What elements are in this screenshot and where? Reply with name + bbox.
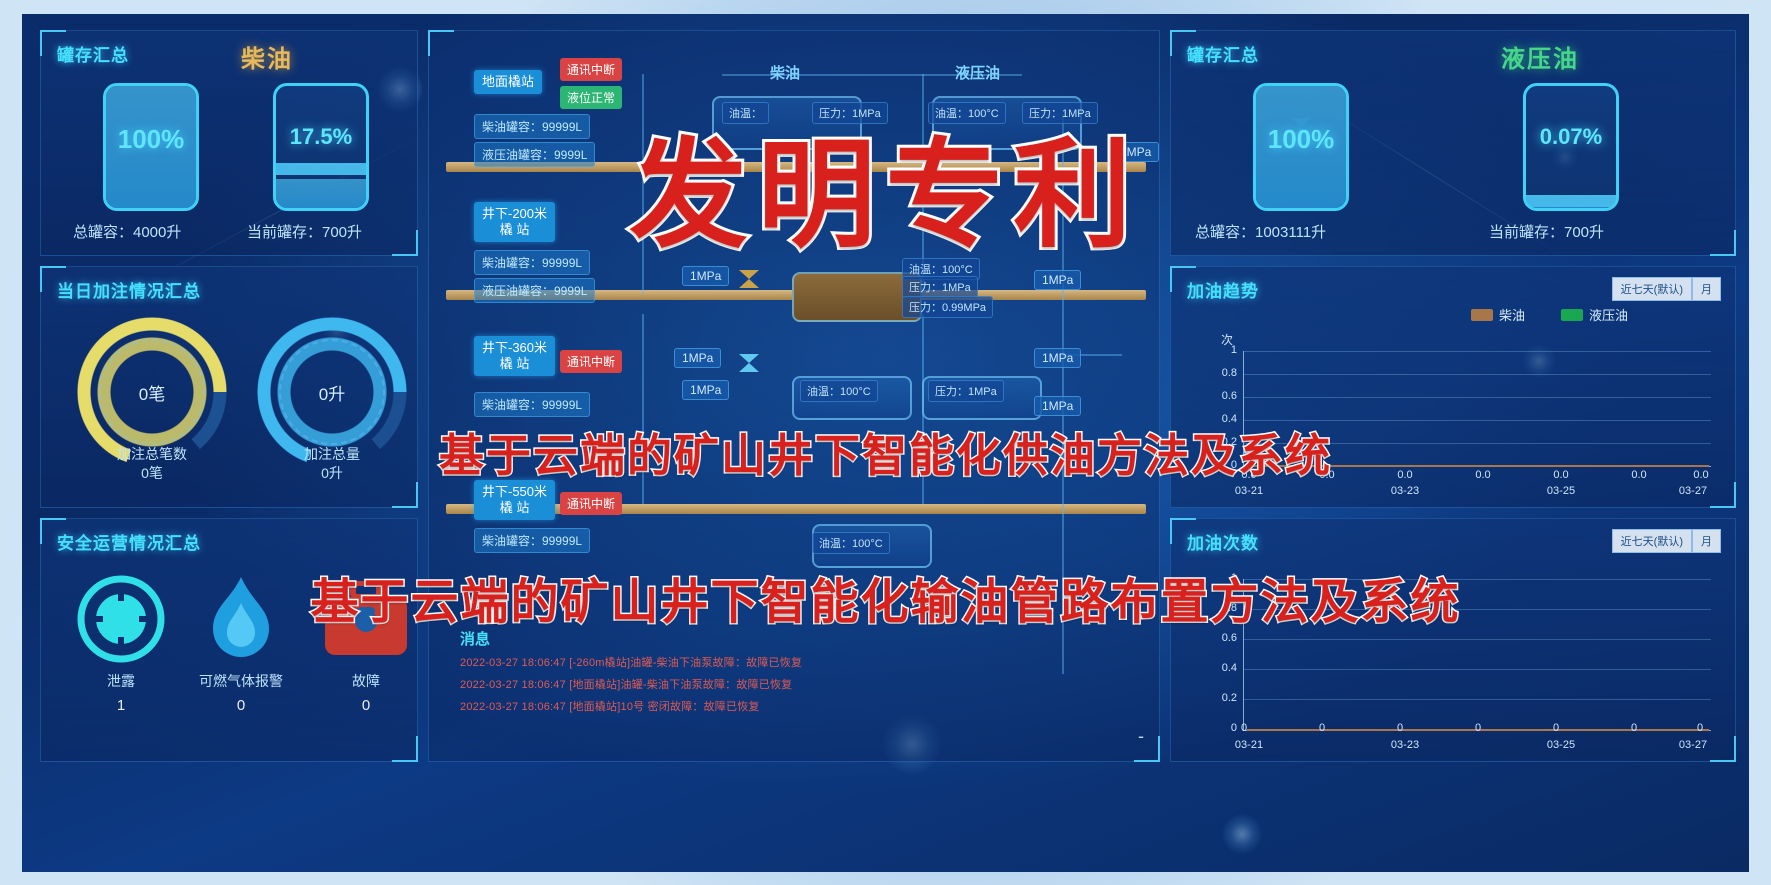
refuel-count-panel: 加油次数 近七天(默认) 月 1 0.8 0.6 0.4 0.2 0 0 0 0… <box>1170 518 1736 762</box>
tank-gauge-current[interactable]: 17.5% <box>273 83 369 211</box>
pressure-tag: 1MPa <box>1034 348 1081 368</box>
panel-corner <box>428 30 454 56</box>
y-tick: 0.6 <box>1201 390 1237 402</box>
legend-diesel[interactable]: 柴油 <box>1471 305 1525 324</box>
tank-percent: 0.07% <box>1526 124 1616 150</box>
station-550-tank-diesel: 柴油罐容：99999L <box>474 528 590 553</box>
message-line: 2022-03-27 18:06:47 [地面橇站]油罐-柴油下油泵故障：故障已… <box>460 676 792 692</box>
bokeh-glow <box>1222 814 1262 854</box>
schematic-header-diesel: 柴油 <box>762 62 808 86</box>
flame-icon <box>201 573 281 670</box>
station-surface-comm-status: 通讯中断 <box>560 58 622 81</box>
safety-value-fault: 0 <box>313 697 419 714</box>
range-button-month[interactable]: 月 <box>1692 529 1721 553</box>
x-tick: 03-21 <box>1227 485 1271 497</box>
diesel-tank-panel: 罐存汇总 柴油 100% 总罐容：4000升 17.5% 当前罐存：700升 <box>40 30 418 256</box>
panel-title: 加油趋势 <box>1187 277 1259 302</box>
tank-gauge-current[interactable]: 0.07% <box>1523 83 1619 211</box>
point-label: 0 <box>1385 722 1415 734</box>
y-tick: 0.6 <box>1201 632 1237 644</box>
station-surface-level-status: 液位正常 <box>560 86 622 109</box>
tank-gauge-total[interactable]: 100% <box>1253 83 1349 211</box>
schematic-header-hyd: 液压油 <box>947 62 1008 86</box>
station-360-tank-diesel: 柴油罐容：99999L <box>474 392 590 417</box>
gauge-caption-volume: 加注总量 0升 <box>257 445 407 483</box>
point-label: 0 <box>1685 722 1715 734</box>
legend-swatch-hydraulic <box>1561 309 1583 321</box>
count-range-selector[interactable]: 近七天(默认) 月 <box>1612 529 1721 553</box>
panel-title: 加油次数 <box>1187 529 1259 554</box>
panel-corner <box>392 482 418 508</box>
daily-refuel-panel: 当日加注情况汇总 0笔 加注总笔数 0笔 0升 加注总量 0升 <box>40 266 418 508</box>
valve-icon <box>738 268 760 290</box>
y-tick: 0.8 <box>1201 367 1237 379</box>
point-label: 0 <box>1619 722 1649 734</box>
pressure-tag: 1MPa <box>674 348 721 368</box>
panel-corner <box>392 230 418 256</box>
tank-wave <box>273 163 369 175</box>
tank-current-caption: 当前罐存：700升 <box>1489 221 1604 242</box>
station-200-tank-diesel: 柴油罐容：99999L <box>474 250 590 275</box>
panel-corner <box>392 736 418 762</box>
x-tick: 03-27 <box>1671 485 1715 497</box>
sensor-temp-550: 油温：100°C <box>812 532 890 554</box>
station-550[interactable]: 井下-550米 橇 站 <box>474 480 555 520</box>
leak-icon <box>75 573 167 670</box>
dashboard-frame: 罐存汇总 柴油 100% 总罐容：4000升 17.5% 当前罐存：700升 当… <box>22 14 1749 872</box>
x-tick: 03-25 <box>1539 739 1583 751</box>
range-button-week[interactable]: 近七天(默认) <box>1612 529 1692 553</box>
point-label: 0.0 <box>1619 469 1659 481</box>
sensor-pressure-low: 压力：0.99MPa <box>902 296 993 318</box>
range-button-week[interactable]: 近七天(默认) <box>1612 277 1692 301</box>
pressure-tag: 1MPa <box>682 380 729 400</box>
x-tick: 03-23 <box>1383 485 1427 497</box>
message-line: 2022-03-27 18:06:47 [-260m橇站]油罐-柴油下油泵故障：… <box>460 654 802 670</box>
oil-type-label: 柴油 <box>241 39 293 74</box>
tank-wave <box>1523 195 1619 207</box>
panel-title: 罐存汇总 <box>57 41 129 66</box>
y-tick: 0.4 <box>1201 662 1237 674</box>
station-360-comm-status: 通讯中断 <box>560 350 622 373</box>
safety-panel: 安全运营情况汇总 泄露 1 可燃气体报警 0 <box>40 518 418 762</box>
point-label: 0 <box>1541 722 1571 734</box>
valve-icon <box>738 352 760 374</box>
gauge-caption-count: 加注总笔数 0笔 <box>77 445 227 483</box>
station-surface-tank-diesel: 柴油罐容：99999L <box>474 114 590 139</box>
station-surface[interactable]: 地面橇站 <box>474 70 542 94</box>
point-label: 0 <box>1229 722 1259 734</box>
point-label: 0.0 <box>1541 469 1581 481</box>
station-surface-tank-hyd: 液压油罐容：9999L <box>474 142 595 167</box>
trend-range-selector[interactable]: 近七天(默认) 月 <box>1612 277 1721 301</box>
sensor-pressure: 压力：1MPa <box>902 276 978 298</box>
tank-fill <box>276 179 366 208</box>
y-tick: 1 <box>1201 344 1237 356</box>
pressure-tag: 1MPa <box>1034 396 1081 416</box>
tank-percent: 100% <box>106 124 196 155</box>
watermark-main: 发明专利 <box>629 99 1141 270</box>
sensor-temp: 压力：1MPa <box>928 380 1004 402</box>
point-label: 0 <box>1463 722 1493 734</box>
tank-capacity-caption: 总罐容：1003111升 <box>1195 221 1326 242</box>
oil-type-label: 液压油 <box>1501 39 1579 74</box>
safety-label-leak: 泄露 <box>75 671 167 691</box>
safety-value-gas: 0 <box>181 697 301 714</box>
hydraulic-tank-panel: 罐存汇总 液压油 100% 总罐容：1003111升 0.07% 当前罐存：70… <box>1170 30 1736 256</box>
x-tick: 03-23 <box>1383 739 1427 751</box>
point-label: 0.0 <box>1681 469 1721 481</box>
station-550-comm-status: 通讯中断 <box>560 492 622 515</box>
station-200[interactable]: 井下-200米 橇 站 <box>474 202 555 242</box>
point-label: 0 <box>1307 722 1337 734</box>
tank-current-caption: 当前罐存：700升 <box>247 221 362 242</box>
tank-capacity-caption: 总罐容：4000升 <box>73 221 181 242</box>
panel-title: 罐存汇总 <box>1187 41 1259 66</box>
tank-gauge-total[interactable]: 100% <box>103 83 199 211</box>
tank-percent: 17.5% <box>276 124 366 150</box>
x-tick: 03-27 <box>1671 739 1715 751</box>
watermark-line-2: 基于云端的矿山井下智能化输油管路布置方法及系统 <box>310 562 1460 632</box>
point-label: 0.0 <box>1463 469 1503 481</box>
legend-hydraulic[interactable]: 液压油 <box>1561 305 1628 324</box>
panel-title: 当日加注情况汇总 <box>57 277 201 302</box>
sensor-temp: 油温：100°C <box>800 380 878 402</box>
station-360[interactable]: 井下-360米 橇 站 <box>474 336 555 376</box>
pressure-tag: 1MPa <box>1034 270 1081 290</box>
panel-corner <box>1710 230 1736 256</box>
legend-swatch-diesel <box>1471 309 1493 321</box>
panel-title: 安全运营情况汇总 <box>57 529 201 554</box>
x-tick: 03-25 <box>1539 485 1583 497</box>
safety-label-gas: 可燃气体报警 <box>181 671 301 691</box>
station-200-tank-hyd: 液压油罐容：9999L <box>474 278 595 303</box>
y-tick: 0.2 <box>1201 692 1237 704</box>
watermark-line-1: 基于云端的矿山井下智能化供油方法及系统 <box>439 419 1332 484</box>
dashboard-screen: 罐存汇总 柴油 100% 总罐容：4000升 17.5% 当前罐存：700升 当… <box>0 0 1771 885</box>
safety-label-fault: 故障 <box>313 671 419 691</box>
range-button-month[interactable]: 月 <box>1692 277 1721 301</box>
point-label: 0.0 <box>1385 469 1425 481</box>
safety-value-leak: 1 <box>75 697 167 714</box>
zoom-out-button[interactable]: - <box>1138 726 1144 747</box>
message-line: 2022-03-27 18:06:47 [地面橇站]10号 密闭故障：故障已恢复 <box>460 698 760 714</box>
x-tick: 03-21 <box>1227 739 1271 751</box>
tank-percent: 100% <box>1256 124 1346 155</box>
